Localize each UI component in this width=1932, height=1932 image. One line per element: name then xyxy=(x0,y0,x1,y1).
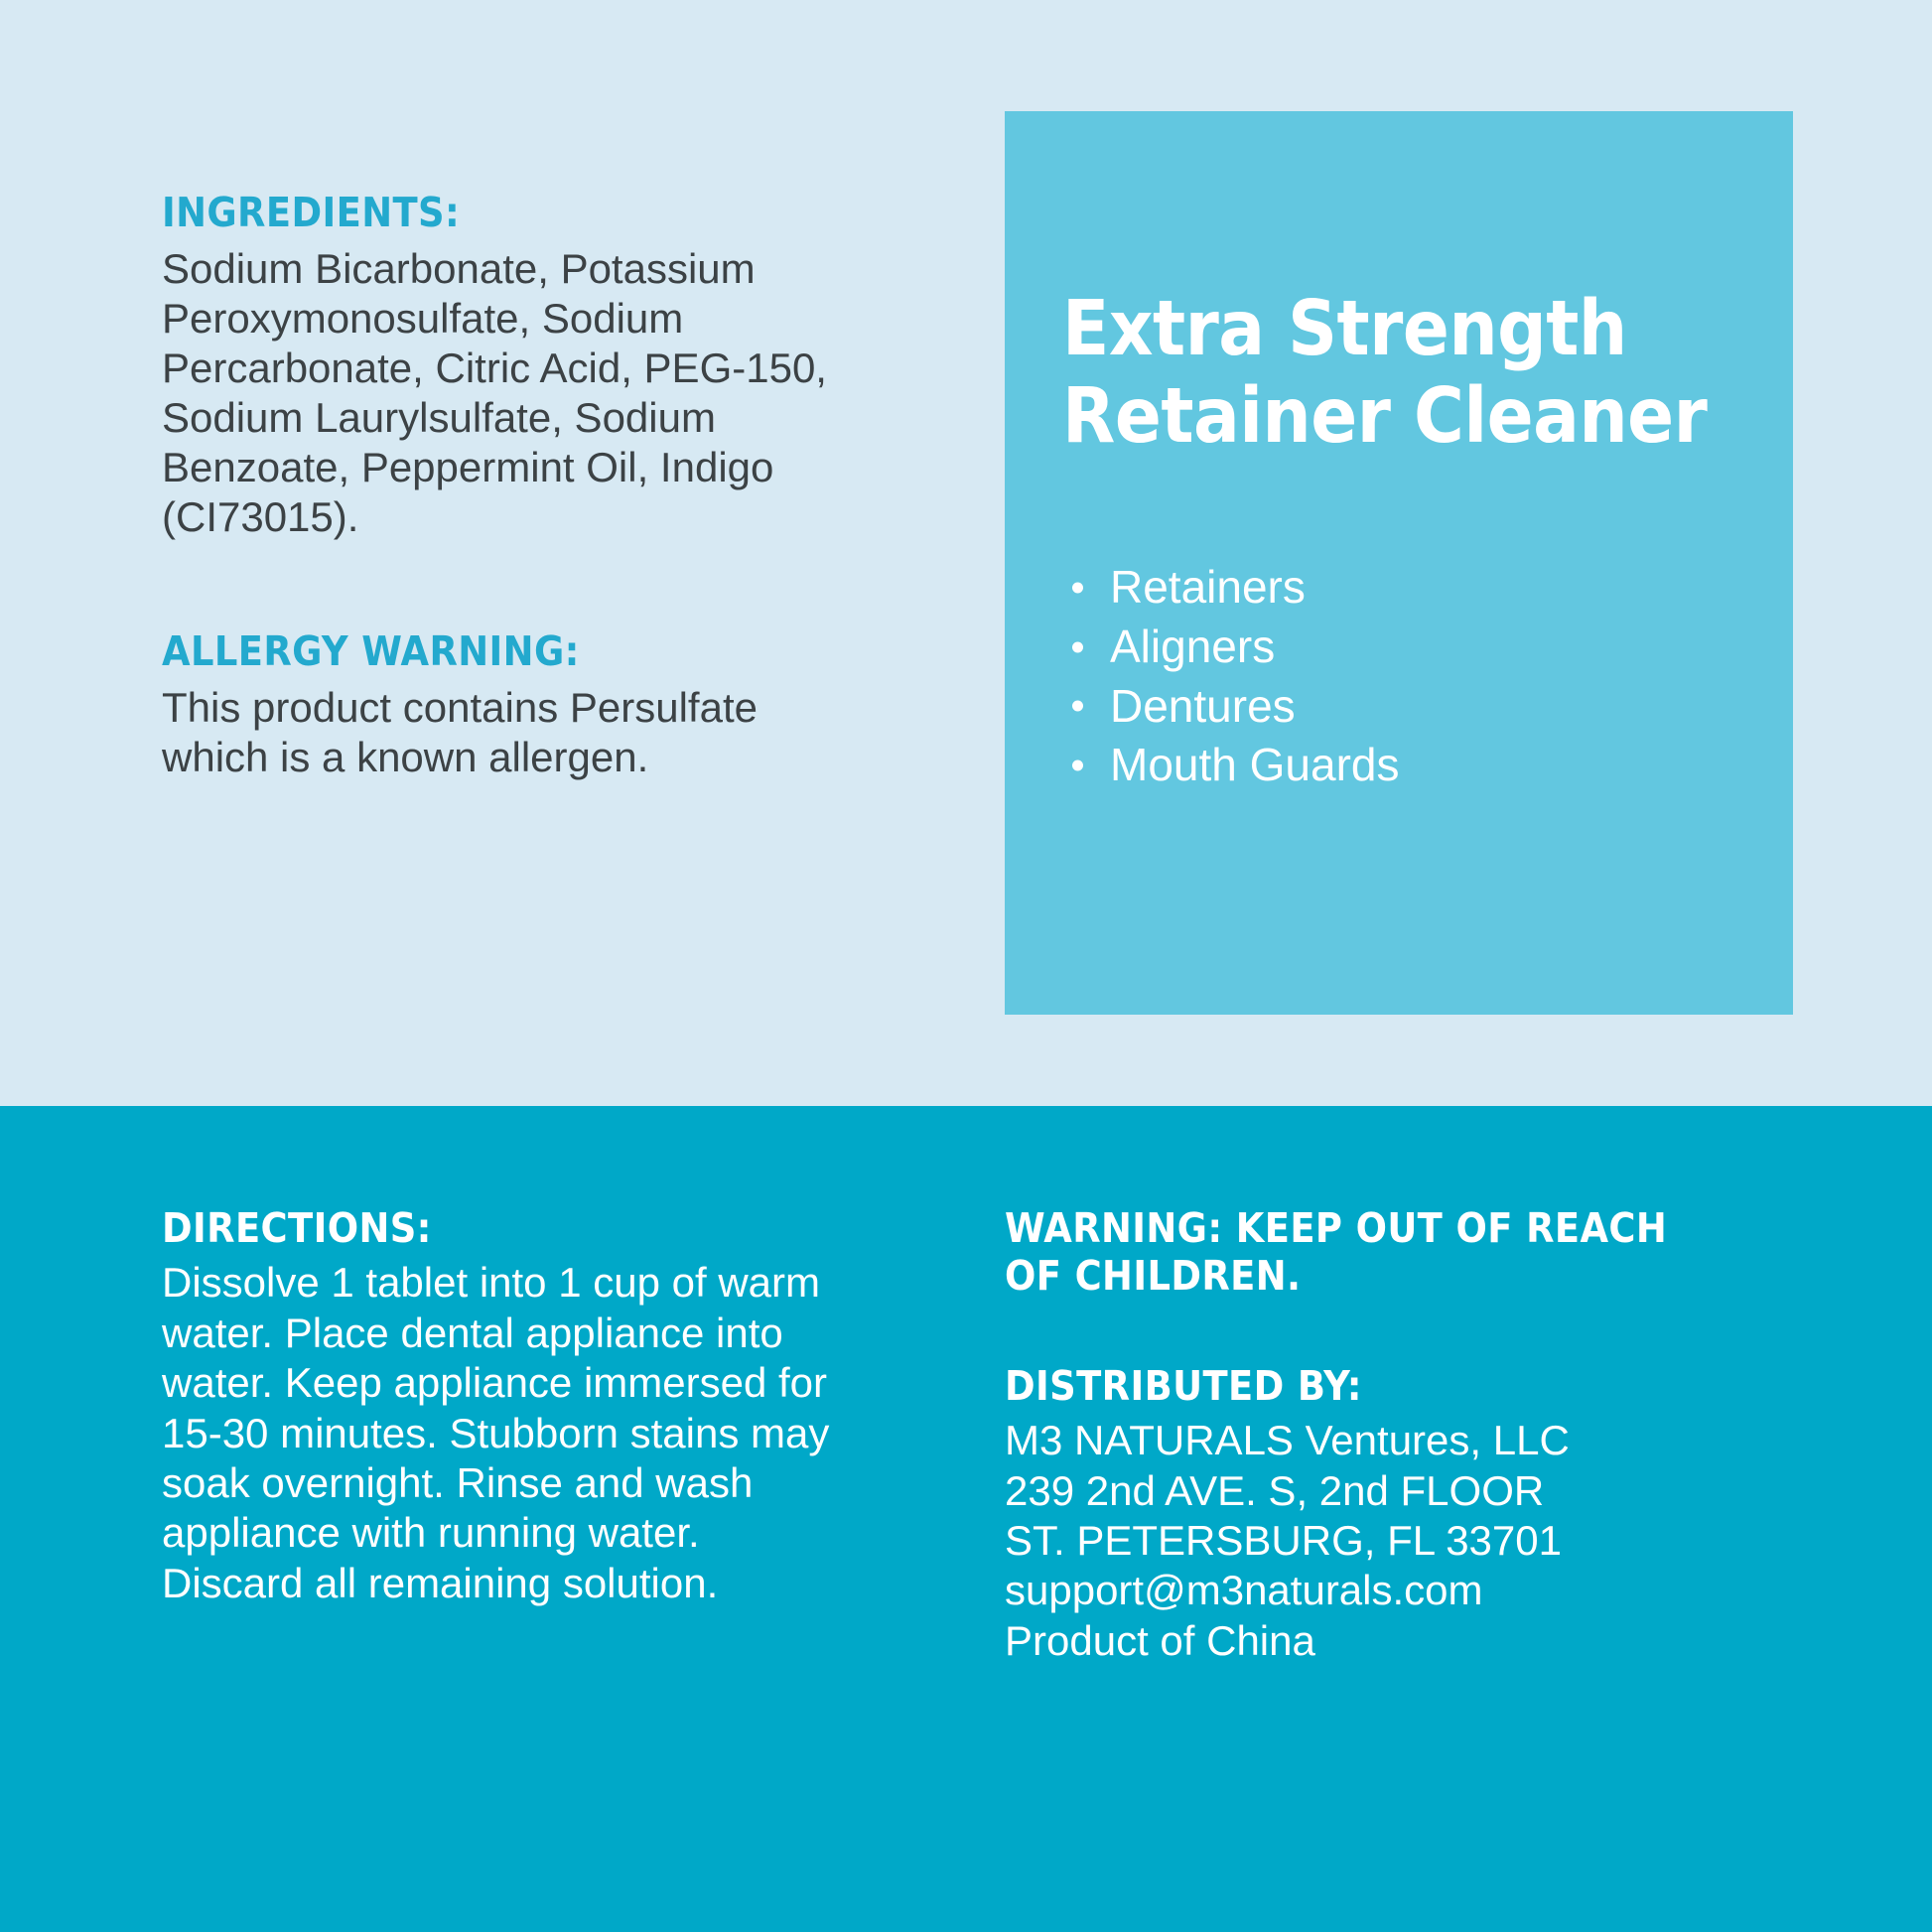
warning-distributor-column: WARNING: KEEP OUT OF REACH OF CHILDREN. … xyxy=(1005,1204,1720,1666)
ingredients-text: Sodium Bicarbonate, Potassium Peroxymono… xyxy=(162,244,857,542)
directions-column: DIRECTIONS: Dissolve 1 tablet into 1 cup… xyxy=(162,1204,837,1608)
ingredients-allergy-column: INGREDIENTS: Sodium Bicarbonate, Potassi… xyxy=(162,189,857,782)
list-item-label: Retainers xyxy=(1110,561,1306,613)
directions-text: Dissolve 1 tablet into 1 cup of warm wat… xyxy=(162,1258,837,1608)
list-item: Dentures xyxy=(1062,677,1399,737)
distributor-address-line1: 239 2nd AVE. S, 2nd FLOOR xyxy=(1005,1466,1720,1516)
list-item-label: Dentures xyxy=(1110,680,1296,732)
bullet-icon xyxy=(1072,641,1083,652)
product-origin: Product of China xyxy=(1005,1616,1720,1666)
keep-out-of-reach-warning: WARNING: KEEP OUT OF REACH OF CHILDREN. xyxy=(1005,1204,1720,1301)
allergy-warning-heading: ALLERGY WARNING: xyxy=(162,627,857,675)
allergy-warning-text: This product contains Persulfate which i… xyxy=(162,683,857,782)
directions-heading: DIRECTIONS: xyxy=(162,1204,837,1252)
bullet-icon xyxy=(1072,760,1083,771)
product-uses-list: Retainers Aligners Dentures Mouth Guards xyxy=(1062,558,1399,795)
distributor-heading: DISTRIBUTED BY: xyxy=(1005,1362,1720,1410)
distributor-company: M3 NATURALS Ventures, LLC xyxy=(1005,1416,1720,1465)
list-item-label: Aligners xyxy=(1110,621,1275,672)
section-spacer xyxy=(1005,1307,1720,1362)
section-spacer xyxy=(162,542,857,627)
bullet-icon xyxy=(1072,701,1083,712)
distributor-email: support@m3naturals.com xyxy=(1005,1566,1720,1615)
distributor-address-line2: ST. PETERSBURG, FL 33701 xyxy=(1005,1516,1720,1566)
list-item: Mouth Guards xyxy=(1062,736,1399,795)
product-title: Extra Strength Retainer Cleaner xyxy=(1062,286,1757,461)
ingredients-heading: INGREDIENTS: xyxy=(162,189,857,236)
hero-panel: Extra Strength Retainer Cleaner Retainer… xyxy=(1005,111,1793,1015)
product-label: INGREDIENTS: Sodium Bicarbonate, Potassi… xyxy=(0,0,1932,1932)
list-item-label: Mouth Guards xyxy=(1110,739,1399,790)
list-item: Retainers xyxy=(1062,558,1399,618)
bullet-icon xyxy=(1072,582,1083,593)
list-item: Aligners xyxy=(1062,618,1399,677)
